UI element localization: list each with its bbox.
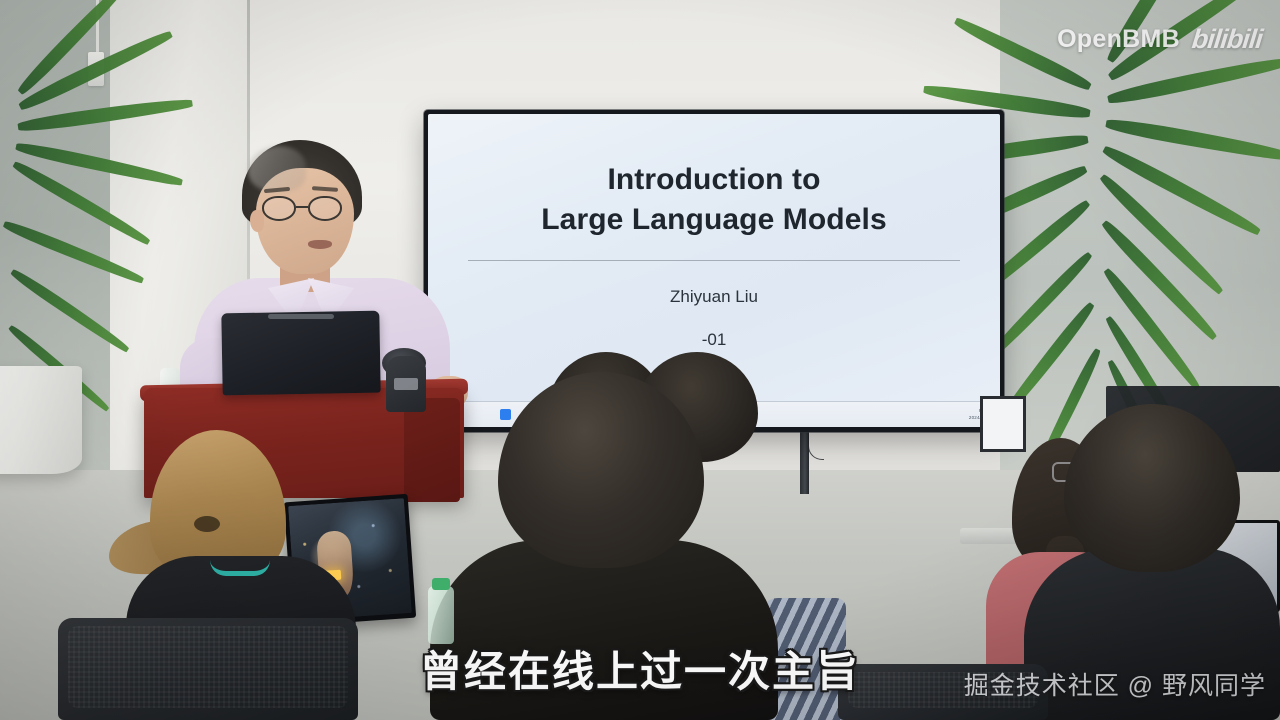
presenter-hair-highlight [248, 146, 306, 192]
slide-title-line1: Introduction to [541, 160, 887, 200]
watermark-openbmb: OpenBMB [1057, 25, 1180, 54]
water-bottle-cap [432, 578, 450, 590]
audience-woman-necklace [210, 560, 270, 576]
top-watermark: OpenBMB bilibili [1057, 24, 1262, 55]
podium-side-panel [404, 398, 460, 502]
slide-title-line2: Large Language Models [541, 200, 887, 240]
presenter-mouth [308, 240, 332, 249]
slide-author: Zhiyuan Liu [670, 287, 758, 307]
slide-title: Introduction to Large Language Models [541, 160, 887, 240]
wall-picture [980, 396, 1026, 452]
bilibili-logo-icon: bilibili [1190, 24, 1263, 55]
slide-date: -01 [702, 330, 727, 350]
potted-palm-right [980, 20, 1280, 440]
video-frame: Introduction to Large Language Models Zh… [0, 0, 1280, 720]
audience-woman-hair-tie [194, 516, 220, 532]
slide-divider [468, 260, 960, 261]
lens-left [262, 196, 296, 221]
edge-icon[interactable] [500, 409, 511, 420]
microphone-buttons [394, 378, 418, 390]
bottom-watermark: 掘金技术社区 @ 野风同学 [964, 666, 1266, 702]
plant-pot-left [0, 366, 82, 474]
presenter-laptop [221, 311, 380, 396]
eyeglasses-icon [260, 196, 356, 222]
lens-right [308, 196, 342, 221]
glasses-bridge [296, 206, 308, 208]
presenter-laptop-hinge [268, 314, 334, 319]
water-bottle-desk [428, 586, 454, 644]
